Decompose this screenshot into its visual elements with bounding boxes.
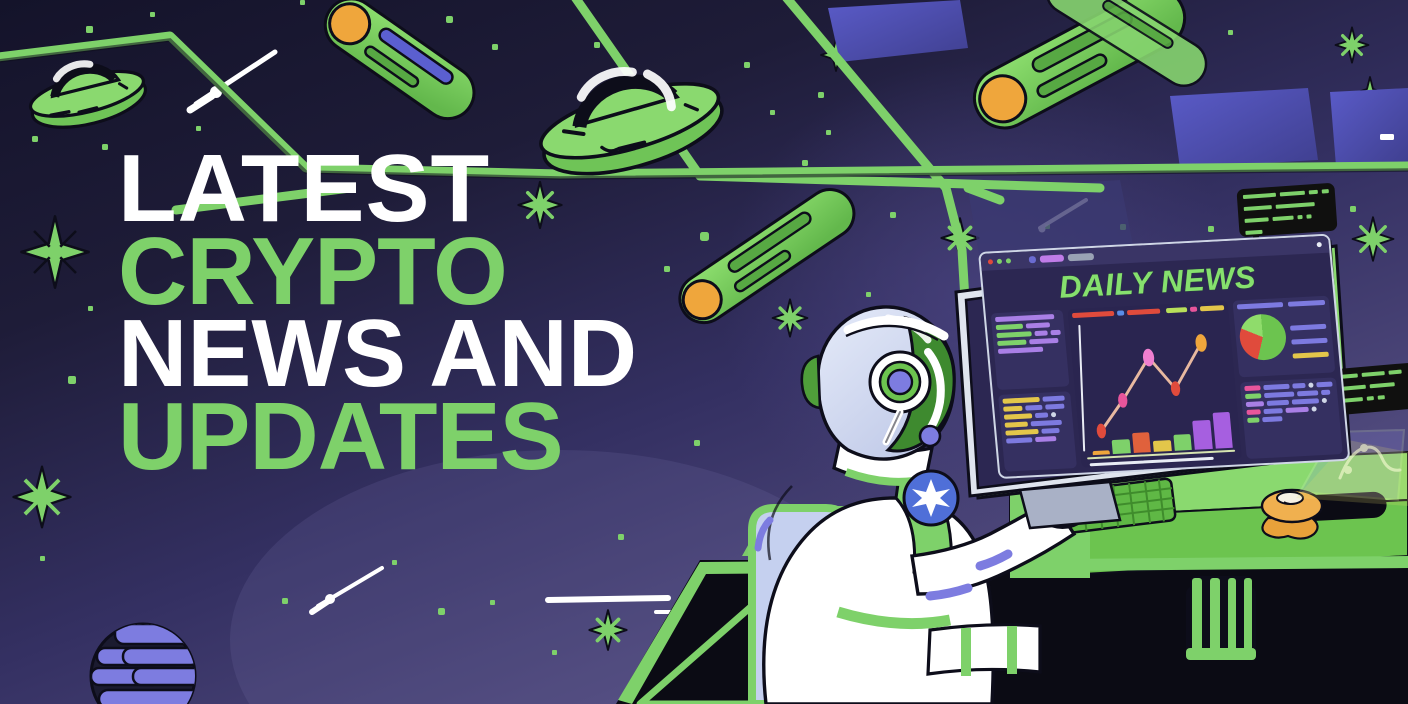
browser-tab-3[interactable] bbox=[1068, 253, 1095, 261]
banner-illustration: LATEST CRYPTO NEWS AND UPDATES DAILY NEW… bbox=[0, 0, 1408, 704]
chart-plot-area bbox=[1075, 315, 1235, 455]
pie-card bbox=[1232, 296, 1335, 378]
dashboard-right-column bbox=[1232, 296, 1342, 459]
browser-dot-min[interactable] bbox=[997, 259, 1002, 264]
window-glass-2 bbox=[1170, 88, 1318, 168]
headline-block: LATEST CRYPTO NEWS AND UPDATES bbox=[118, 148, 637, 478]
code-bar bbox=[995, 314, 1054, 322]
browser-tab-1[interactable] bbox=[1029, 256, 1037, 263]
browser-tab-2[interactable] bbox=[1040, 255, 1065, 263]
browser-dot-close[interactable] bbox=[988, 259, 993, 264]
canisters bbox=[1186, 576, 1256, 660]
side-terminal-top bbox=[1236, 183, 1337, 238]
browser-dot-max[interactable] bbox=[1006, 258, 1011, 263]
mission-badge bbox=[904, 471, 958, 525]
dashboard-panels bbox=[991, 296, 1343, 472]
chart-line-series bbox=[1075, 315, 1235, 455]
headline-line-4: UPDATES bbox=[118, 396, 637, 479]
monitor-screen: DAILY NEWS bbox=[978, 234, 1350, 479]
pie-chart bbox=[1238, 313, 1288, 361]
dashboard-chart-column bbox=[1068, 301, 1242, 468]
code-card-bottom bbox=[998, 391, 1077, 471]
window-glass-3 bbox=[1330, 88, 1408, 166]
table-card bbox=[1240, 377, 1343, 459]
dashboard-left-column bbox=[991, 310, 1077, 472]
chart-card bbox=[1068, 301, 1242, 468]
browser-menu-dot[interactable] bbox=[1317, 242, 1322, 247]
code-card-top bbox=[991, 310, 1070, 390]
